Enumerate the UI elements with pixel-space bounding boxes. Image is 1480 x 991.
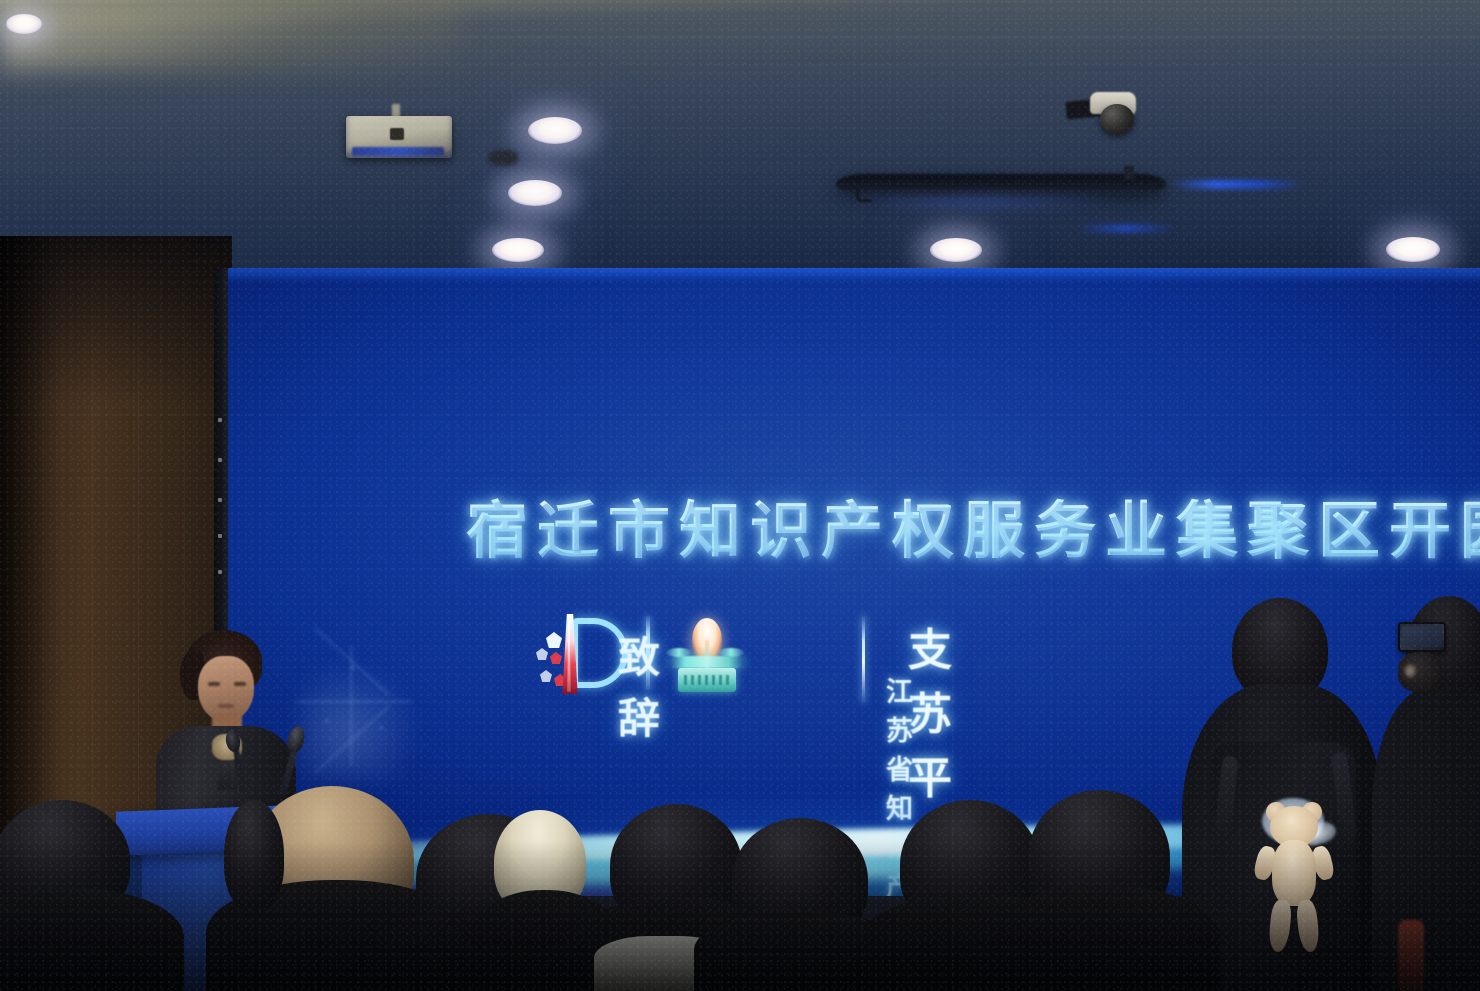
ceiling-projector	[346, 116, 452, 158]
speaker-eye	[208, 682, 220, 686]
truss-underglow	[838, 196, 1118, 212]
bezel-fixing-dot	[218, 458, 222, 462]
downlight	[528, 117, 582, 144]
projector-lens-icon	[390, 128, 404, 140]
podium-light-bloom	[300, 660, 420, 780]
plush-bear-charm	[1258, 806, 1330, 958]
bezel-fixing-dot	[218, 418, 222, 422]
bezel-fixing-dot	[218, 534, 222, 538]
dome-security-camera-icon	[1100, 104, 1134, 134]
speaker-mouth	[218, 704, 234, 708]
ceiling-seam	[0, 166, 1480, 168]
truss-hook	[856, 188, 872, 202]
downlight	[492, 238, 544, 262]
plush-body	[1272, 840, 1316, 906]
foreground-red-object	[1398, 920, 1424, 991]
plush-leg	[1295, 899, 1320, 953]
truss-hook	[1124, 166, 1134, 180]
speaker-face	[198, 656, 254, 722]
speaker-eye	[234, 682, 246, 686]
smartphone-screen	[1402, 626, 1442, 647]
lighting-truss-rail	[836, 174, 1166, 194]
downlight	[1386, 237, 1440, 262]
event-photo-scene: 宿迁市知识产权服务业集聚区开园仪式 致 辞 支苏平 江苏省知识产权局局长	[0, 0, 1480, 991]
hand-highlight	[1404, 664, 1416, 678]
blue-light-strip	[1172, 180, 1302, 189]
downlight	[930, 238, 982, 262]
bezel-fixing-dot	[218, 498, 222, 502]
ceiling-warm-glow	[0, 0, 460, 70]
person-filming-with-phone	[1372, 688, 1480, 991]
ceiling-mount-bracket	[488, 150, 518, 166]
blue-light-strip	[1076, 225, 1176, 232]
downlight	[6, 14, 42, 34]
plush-leg	[1267, 899, 1292, 953]
audience-member	[224, 800, 284, 910]
downlight	[508, 180, 562, 206]
audience-shoulders	[988, 886, 1220, 991]
bezel-fixing-dot	[218, 570, 222, 574]
ceiling-seam	[0, 36, 1480, 38]
